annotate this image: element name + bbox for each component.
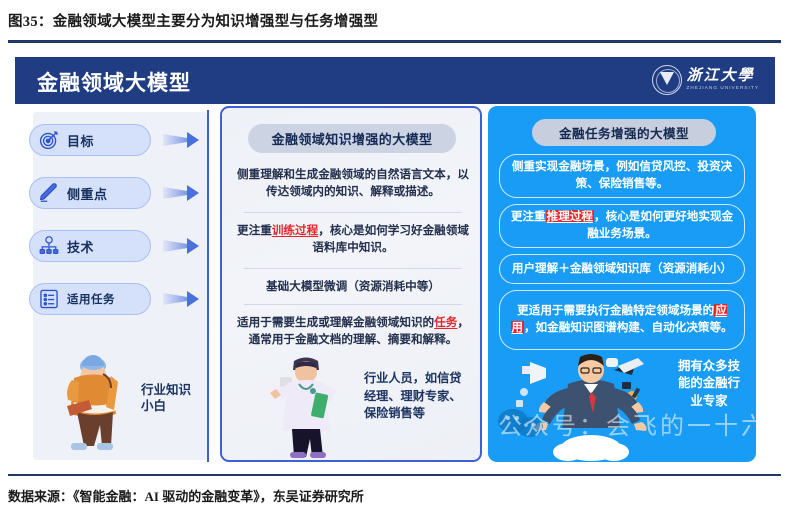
title-rule <box>8 40 781 43</box>
professional-illustration <box>258 351 354 459</box>
knowledge-separator-1 <box>244 212 462 213</box>
hierarchy-icon <box>38 235 60 257</box>
source-rule <box>8 474 781 476</box>
middle-persona-label: 行业人员，如信贷经理、理财专家、保险销售等 <box>364 370 470 423</box>
category-badge-label: 目标 <box>67 131 94 150</box>
knowledge-block-4: 适用于需要生成或理解金融领域知识的任务，通常用于金融文档的理解、摘要和解释。 <box>234 314 472 349</box>
category-badge-goal[interactable]: 目标 <box>29 124 151 156</box>
knowledge-block-3: 基础大模型微调（资源消耗中等） <box>234 278 472 295</box>
target-icon <box>38 129 60 151</box>
task-block-4: 更适用于需要执行金融特定领域场景的应用，如金融知识图谱构建、自动化决策等。 <box>499 290 745 350</box>
flow-arrow-2 <box>163 184 201 202</box>
figure-header-bar: 金融领域大模型 浙江大學 ZHEJIANG UNIVERSITY <box>15 57 775 104</box>
highlight-task: 任务 <box>434 316 457 329</box>
flow-arrow-3 <box>163 237 201 255</box>
category-badge-technology[interactable]: 技术 <box>29 230 151 262</box>
task-panel-heading-text: 金融任务增强的大模型 <box>559 123 689 142</box>
flow-arrow-4 <box>163 290 201 308</box>
figure-header-title: 金融领域大模型 <box>37 67 191 97</box>
category-badge-tasks[interactable]: 适用任务 <box>29 283 151 315</box>
flow-arrow-1 <box>163 131 201 149</box>
student-illustration <box>41 350 145 454</box>
left-divider-line <box>207 110 209 462</box>
source-note: 数据来源：《智能金融：AI 驱动的金融变革》，东吴证券研究所 <box>8 486 778 505</box>
knowledge-separator-2 <box>244 268 462 269</box>
task-block-1: 侧重实现金融场景，例如信贷风控、投资决策、保险销售等。 <box>499 154 745 198</box>
left-persona-label: 行业知识小白 <box>141 382 195 414</box>
category-badge-focus[interactable]: 侧重点 <box>29 177 151 209</box>
university-seal-icon <box>652 65 682 95</box>
right-persona-label: 拥有众多技能的金融行业专家 <box>676 358 742 410</box>
task-enhanced-panel: 金融任务增强的大模型 侧重实现金融场景，例如信贷风控、投资决策、保险销售等。 更… <box>488 106 756 462</box>
university-name-block: 浙江大學 ZHEJIANG UNIVERSITY <box>687 69 759 91</box>
highlight-inference-process: 推理过程 <box>546 210 594 223</box>
figure-container: 金融领域大模型 浙江大學 ZHEJIANG UNIVERSITY 目标 <box>15 57 775 466</box>
knowledge-separator-3 <box>244 304 462 305</box>
knowledge-enhanced-panel: 金融领域知识增强的大模型 侧重理解和生成金融领域的自然语言文本，以传达领域内的知… <box>220 106 482 462</box>
knowledge-panel-heading: 金融领域知识增强的大模型 <box>248 124 456 153</box>
page-title: 图35：金融领域大模型主要分为知识增强型与任务增强型 <box>8 10 768 31</box>
category-badge-label: 侧重点 <box>67 184 108 203</box>
task-block-3: 用户理解＋金融领域知识库（资源消耗小） <box>499 254 745 284</box>
checklist-icon <box>38 288 60 310</box>
category-badge-label: 适用任务 <box>67 291 115 307</box>
pencil-icon <box>38 182 60 204</box>
category-badge-label: 技术 <box>67 237 94 256</box>
zhejiang-university-logo: 浙江大學 ZHEJIANG UNIVERSITY <box>652 65 759 95</box>
task-panel-heading: 金融任务增强的大模型 <box>532 119 716 146</box>
figure-body: 目标 侧重点 <box>15 104 775 466</box>
highlight-training-process: 训练过程 <box>272 224 318 237</box>
wechat-icon <box>494 406 548 440</box>
university-name-en: ZHEJIANG UNIVERSITY <box>687 86 759 91</box>
multi-arm-expert-illustration <box>506 344 676 462</box>
knowledge-block-2: 更注重训练过程，核心是如何学习好金融领域语料库中知识。 <box>234 222 472 257</box>
knowledge-block-1: 侧重理解和生成金融领域的自然语言文本，以传达领域内的知识、解释或描述。 <box>234 166 472 201</box>
task-block-2: 更注重推理过程，核心是如何更好地实现金融业务场景。 <box>499 204 745 248</box>
knowledge-panel-heading-text: 金融领域知识增强的大模型 <box>272 129 433 148</box>
university-name-cn: 浙江大學 <box>687 69 759 84</box>
